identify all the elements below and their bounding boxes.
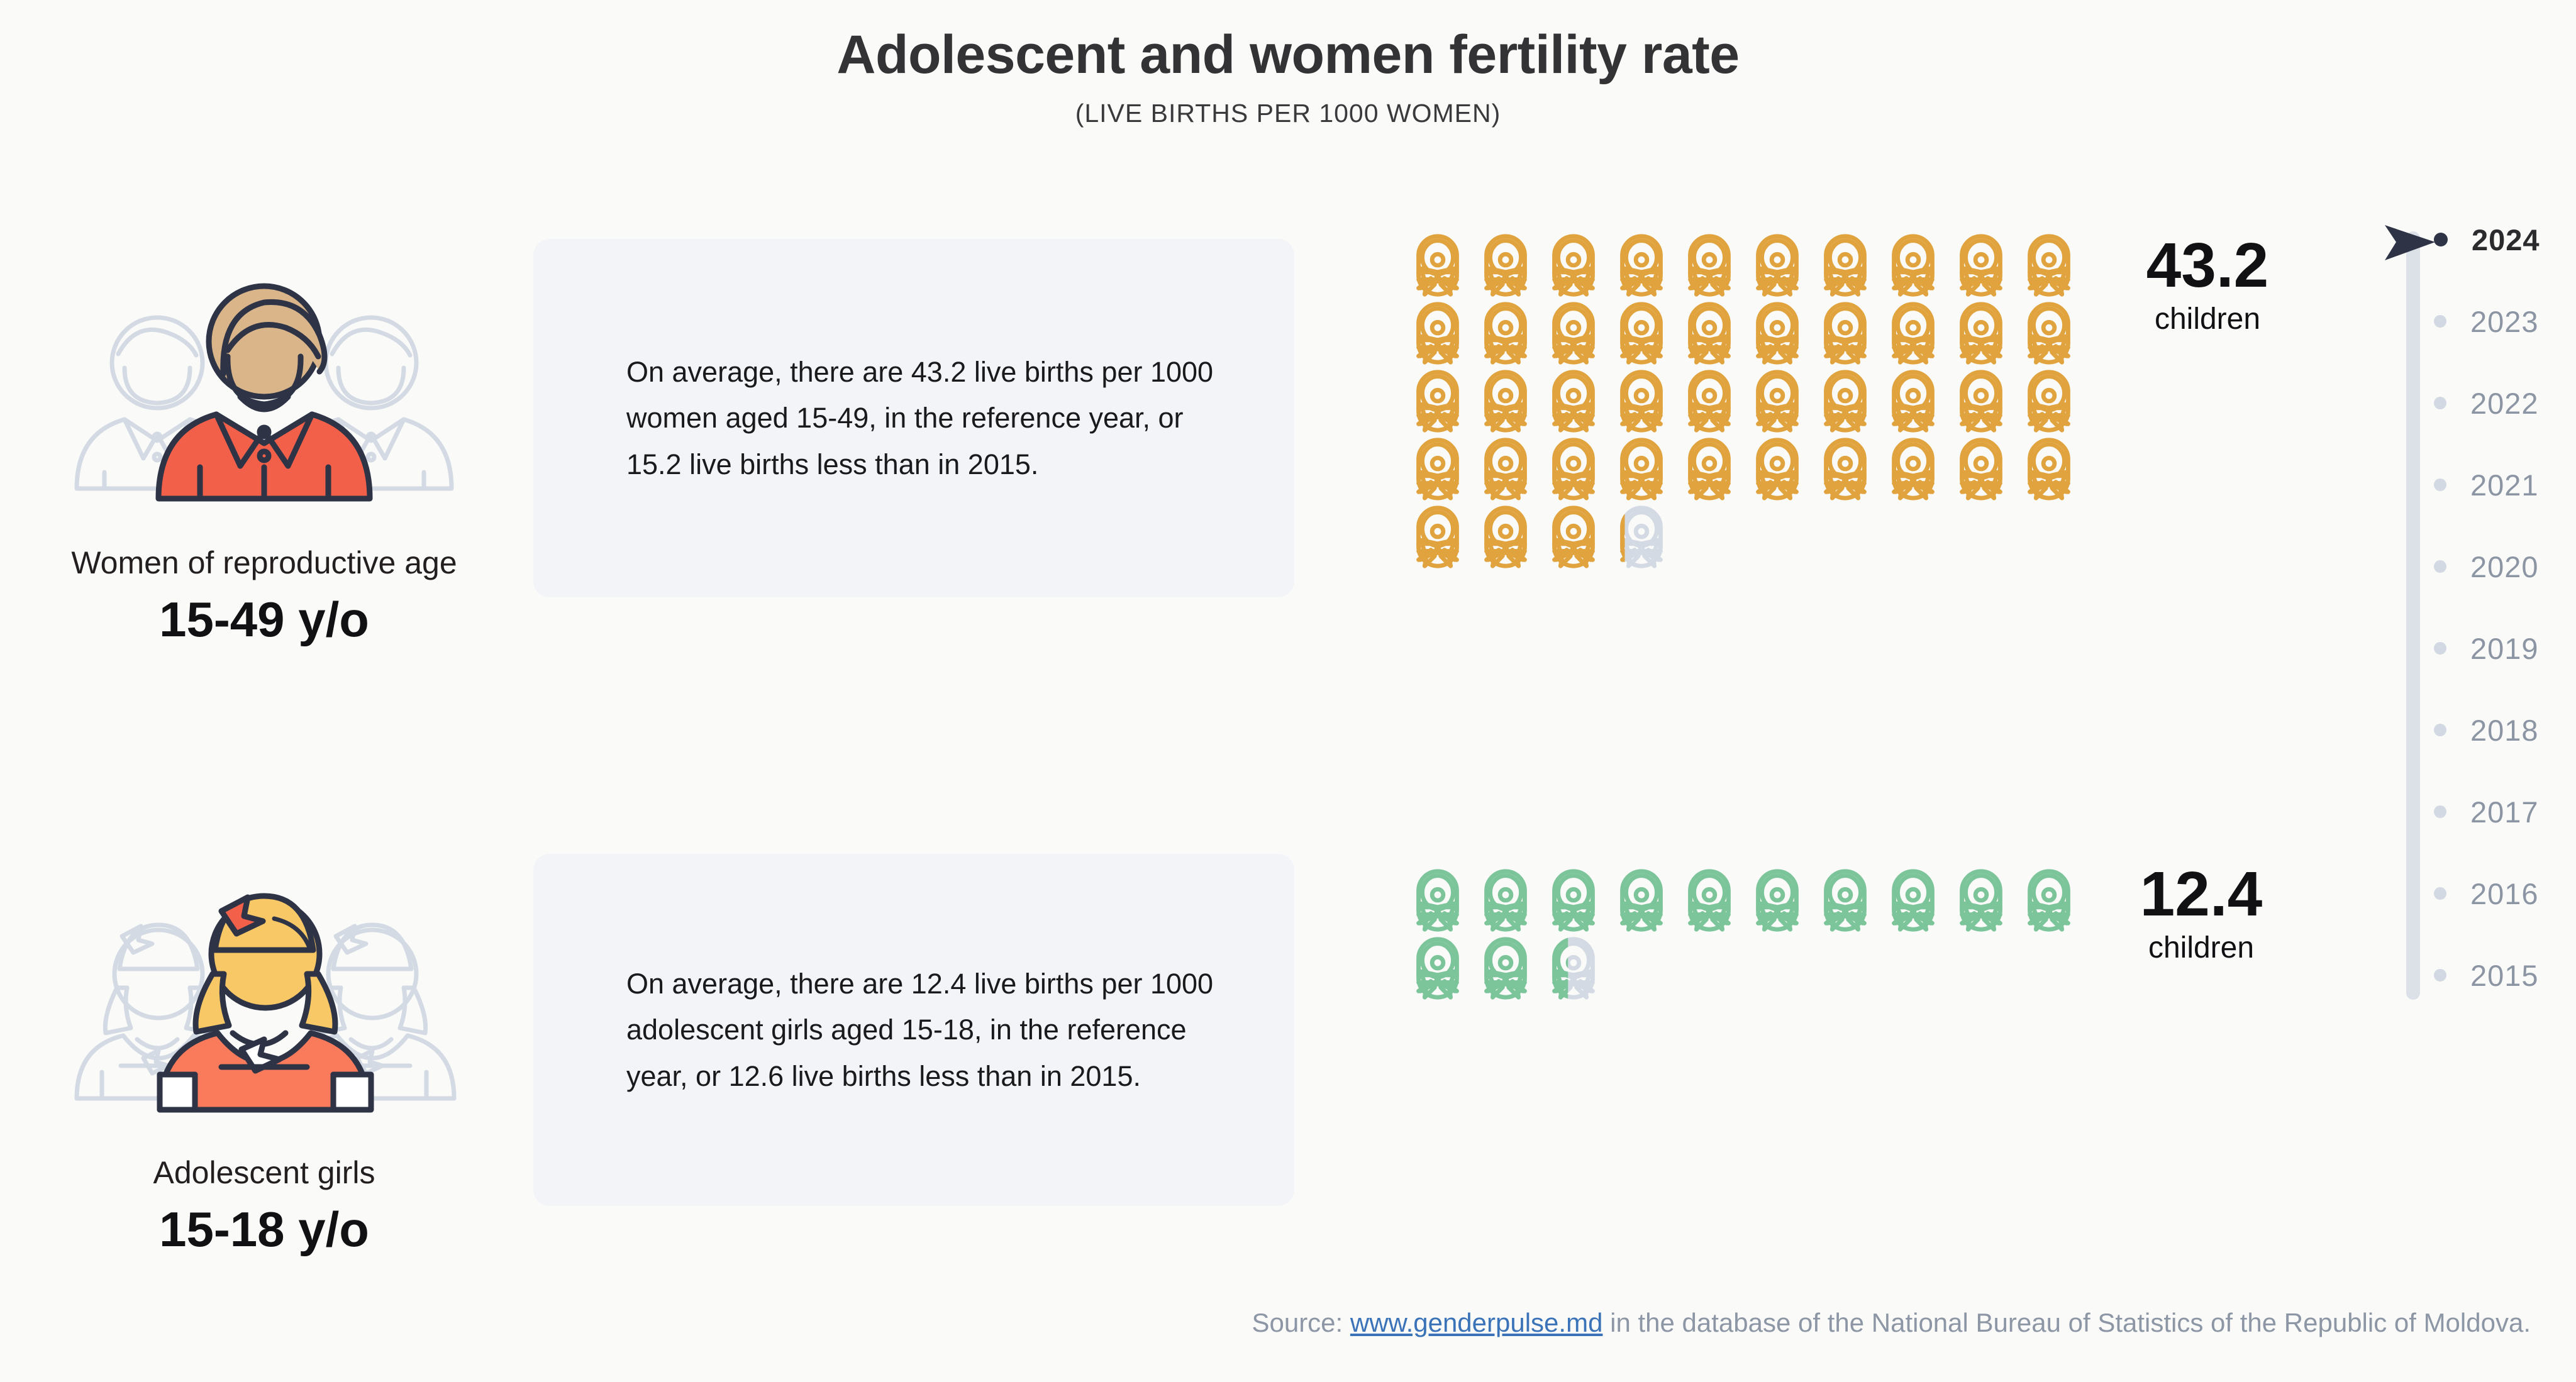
- baby-icon: [1404, 299, 1472, 367]
- baby-icon: [1404, 367, 1472, 435]
- baby-icon: [1675, 231, 1743, 299]
- baby-icon: [1947, 231, 2015, 299]
- note-box-girls: On average, there are 12.4 live births p…: [533, 854, 1294, 1206]
- timeline-year-label: 2018: [2470, 713, 2539, 748]
- baby-icon: [1472, 934, 1540, 1002]
- value-number: 43.2: [2094, 234, 2321, 297]
- footer-suffix: in the database of the National Bureau o…: [1602, 1308, 2531, 1337]
- value-unit: children: [2094, 303, 2321, 336]
- timeline-year-2019[interactable]: 2019: [2384, 629, 2572, 668]
- timeline-year-2020[interactable]: 2020: [2384, 547, 2572, 586]
- page-header: Adolescent and women fertility rate (LIV…: [0, 25, 2576, 128]
- timeline-year-label: 2017: [2470, 795, 2539, 829]
- timeline-year-label: 2023: [2470, 304, 2539, 339]
- baby-icon: [1404, 934, 1472, 1002]
- timeline-year-label: 2019: [2470, 631, 2539, 666]
- baby-icon: [1743, 367, 1811, 435]
- baby-icon: [1540, 503, 1607, 571]
- timeline-dot-icon: [2434, 315, 2446, 328]
- baby-icon: [1879, 231, 1947, 299]
- timeline-dot-icon: [2434, 642, 2446, 655]
- persona-age-range: 15-49 y/o: [0, 593, 535, 647]
- baby-icon: [1675, 866, 1743, 934]
- baby-icon: [1947, 435, 2015, 503]
- timeline-year-label: 2024: [2472, 223, 2540, 257]
- baby-icon: [1472, 866, 1540, 934]
- value-number: 12.4: [2082, 863, 2321, 926]
- timeline-year-2015[interactable]: 2015: [2384, 956, 2572, 995]
- value-readout-women: 43.2 children: [2094, 234, 2321, 336]
- three-women-figures-icon: [0, 223, 535, 525]
- timeline-dot-icon: [2434, 724, 2446, 736]
- baby-icon: [2015, 367, 2083, 435]
- baby-icon: [1540, 866, 1607, 934]
- timeline-year-2016[interactable]: 2016: [2384, 874, 2572, 913]
- baby-icon: [1743, 866, 1811, 934]
- baby-icon: [1607, 435, 1675, 503]
- page-title: Adolescent and women fertility rate: [0, 25, 2576, 85]
- baby-icon: [1607, 866, 1675, 934]
- pictogram-grid-girls: [1404, 866, 2096, 1002]
- baby-icon: [1540, 367, 1607, 435]
- baby-icon: [1540, 299, 1607, 367]
- baby-icon: [1947, 299, 2015, 367]
- source-link[interactable]: www.genderpulse.md: [1350, 1308, 1603, 1337]
- timeline-dot-icon: [2434, 887, 2446, 900]
- baby-icon: [1404, 503, 1472, 571]
- timeline-dot-icon: [2434, 805, 2446, 818]
- timeline-year-label: 2020: [2470, 550, 2539, 584]
- note-box-women: On average, there are 43.2 live births p…: [533, 239, 1294, 597]
- baby-icon: [1743, 435, 1811, 503]
- baby-icon: [1607, 503, 1675, 571]
- baby-icon: [1879, 435, 1947, 503]
- note-text: On average, there are 43.2 live births p…: [626, 349, 1238, 487]
- baby-icon: [2015, 435, 2083, 503]
- baby-icon: [1404, 435, 1472, 503]
- persona-caption: Adolescent girls: [0, 1154, 535, 1191]
- baby-icon: [1675, 435, 1743, 503]
- persona-caption: Women of reproductive age: [0, 544, 535, 582]
- baby-icon: [1607, 299, 1675, 367]
- baby-icon: [1811, 299, 1879, 367]
- baby-icon: [1472, 231, 1540, 299]
- baby-icon: [1540, 231, 1607, 299]
- timeline-dot-icon: [2434, 478, 2446, 491]
- timeline-year-label: 2021: [2470, 468, 2539, 502]
- timeline-year-label: 2016: [2470, 876, 2539, 911]
- footer-prefix: Source:: [1252, 1308, 1350, 1337]
- timeline-dot-icon: [2434, 397, 2446, 409]
- page-subtitle: (LIVE BIRTHS PER 1000 WOMEN): [0, 99, 2576, 128]
- baby-icon: [1607, 367, 1675, 435]
- baby-icon: [1472, 435, 1540, 503]
- baby-icon: [1675, 299, 1743, 367]
- baby-icon: [1811, 367, 1879, 435]
- timeline-year-2024[interactable]: 2024: [2384, 220, 2572, 259]
- baby-icon: [1879, 367, 1947, 435]
- timeline-dot-icon: [2434, 233, 2448, 246]
- timeline-year-2023[interactable]: 2023: [2384, 302, 2572, 341]
- timeline-dot-icon: [2434, 969, 2446, 981]
- persona-age-range: 15-18 y/o: [0, 1203, 535, 1257]
- timeline-year-2021[interactable]: 2021: [2384, 465, 2572, 504]
- three-girl-figures-icon: [0, 833, 535, 1135]
- pictogram-grid-women: [1404, 231, 2096, 571]
- baby-icon: [1472, 367, 1540, 435]
- baby-icon: [1472, 299, 1540, 367]
- baby-icon: [1472, 503, 1540, 571]
- baby-icon: [1879, 866, 1947, 934]
- baby-icon: [1404, 231, 1472, 299]
- baby-icon: [1947, 367, 2015, 435]
- value-readout-girls: 12.4 children: [2082, 863, 2321, 965]
- baby-icon: [1879, 299, 1947, 367]
- baby-icon: [1811, 866, 1879, 934]
- timeline-year-2018[interactable]: 2018: [2384, 710, 2572, 749]
- persona-girls-block: Adolescent girls 15-18 y/o: [0, 833, 535, 1257]
- footer-source: Source: www.genderpulse.md in the databa…: [0, 1308, 2576, 1338]
- baby-icon: [1404, 866, 1472, 934]
- baby-icon: [2015, 866, 2083, 934]
- baby-icon: [1540, 435, 1607, 503]
- persona-women-block: Women of reproductive age 15-49 y/o: [0, 223, 535, 647]
- baby-icon: [1743, 231, 1811, 299]
- baby-icon: [1540, 934, 1607, 1002]
- timeline-year-label: 2022: [2470, 386, 2539, 421]
- timeline-dot-icon: [2434, 560, 2446, 573]
- baby-icon: [1675, 367, 1743, 435]
- timeline-year-2022[interactable]: 2022: [2384, 384, 2572, 423]
- baby-icon: [1743, 299, 1811, 367]
- timeline-year-label: 2015: [2470, 958, 2539, 993]
- value-unit: children: [2082, 932, 2321, 965]
- baby-icon: [1811, 231, 1879, 299]
- year-timeline[interactable]: 2024202320222021202020192018201720162015: [2384, 220, 2572, 1012]
- baby-icon: [2015, 299, 2083, 367]
- baby-icon: [1607, 231, 1675, 299]
- timeline-year-2017[interactable]: 2017: [2384, 792, 2572, 831]
- baby-icon: [1947, 866, 2015, 934]
- baby-icon: [1811, 435, 1879, 503]
- note-text: On average, there are 12.4 live births p…: [626, 961, 1238, 1099]
- baby-icon: [2015, 231, 2083, 299]
